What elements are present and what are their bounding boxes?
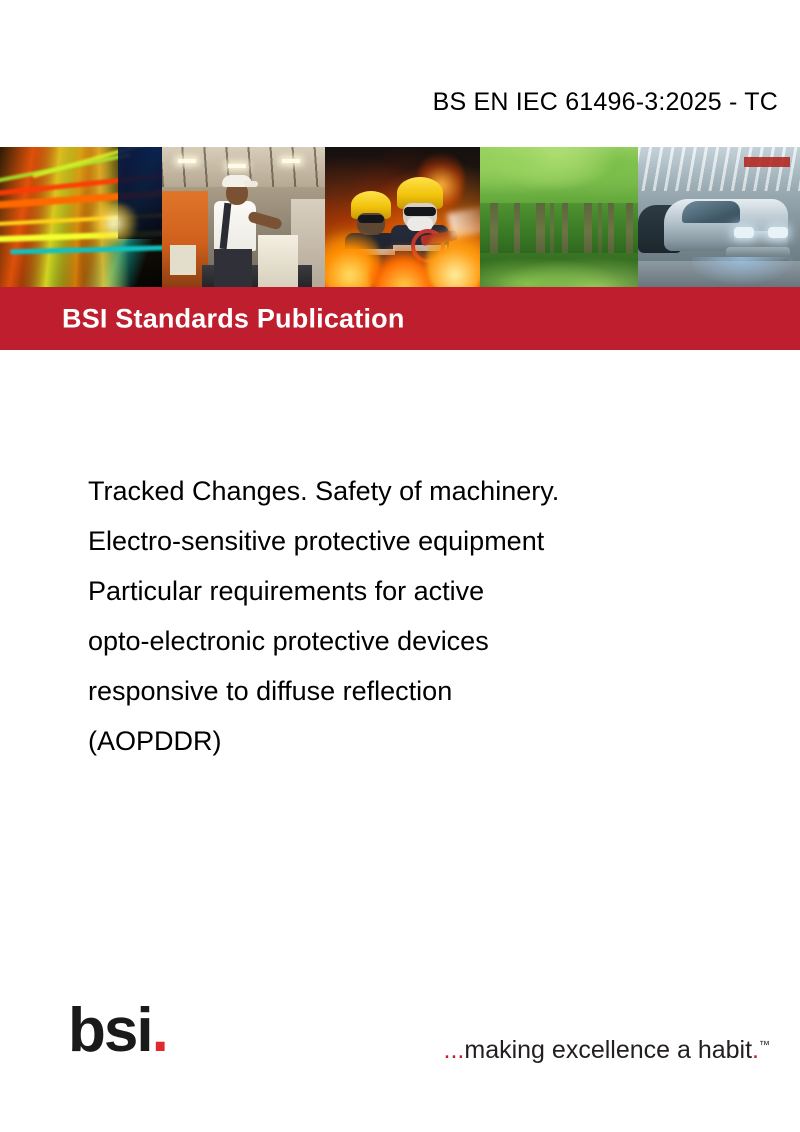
title-line: Tracked Changes. Safety of machinery. [88,466,728,516]
bsi-tagline: ...making excellence a habit.™ [444,1036,770,1065]
car-headlight [768,227,788,238]
worker-legs [214,249,252,287]
factory-roof [638,147,800,191]
forest-canopy [480,147,638,203]
cover-image-forest [480,147,638,287]
ceiling-light [282,159,300,163]
tagline-text: making excellence a habit [464,1036,752,1064]
helmet-visor [404,207,436,216]
helmet-visor [358,215,384,223]
car-windshield [682,201,740,223]
standard-number-header: BS EN IEC 61496-3:2025 - TC [433,88,778,117]
worker-cap [222,175,252,187]
standards-publication-banner: BSI Standards Publication [0,287,800,350]
cover-image-strip [0,147,800,287]
document-title: Tracked Changes. Safety of machinery. El… [88,466,728,766]
title-line: (AOPDDR) [88,716,728,766]
flame [426,219,480,287]
cardboard-box [258,235,298,287]
title-line: responsive to diffuse reflection [88,666,728,716]
light-trail-streak [10,245,162,255]
cover-image-night-traffic-light-trails [0,147,162,287]
title-line: Particular requirements for active [88,566,728,616]
title-line: Electro-sensitive protective equipment [88,516,728,566]
trademark-icon: ™ [759,1040,770,1052]
headlight-floor-reflection [692,257,800,287]
ceiling-light [228,164,246,168]
cover-image-warehouse-worker [162,147,325,287]
tagline-ellipsis: ... [444,1036,465,1064]
forest-floor [480,253,638,287]
cover-image-firefighters [325,147,480,287]
cover-image-car-assembly-line [638,147,800,287]
bsi-logo: bsi. [68,1000,167,1062]
car-headlight [734,227,754,238]
ceiling-light [178,159,196,163]
bsi-logo-dot: . [152,996,167,1065]
cardboard-box [170,245,196,275]
publication-banner-label: BSI Standards Publication [62,303,405,334]
headlight-glow [86,203,142,243]
bsi-logo-wordmark: bsi [68,996,152,1065]
tagline-period: . [752,1036,759,1064]
title-line: opto-electronic protective devices [88,616,728,666]
overhead-gantry-marker [744,157,790,167]
